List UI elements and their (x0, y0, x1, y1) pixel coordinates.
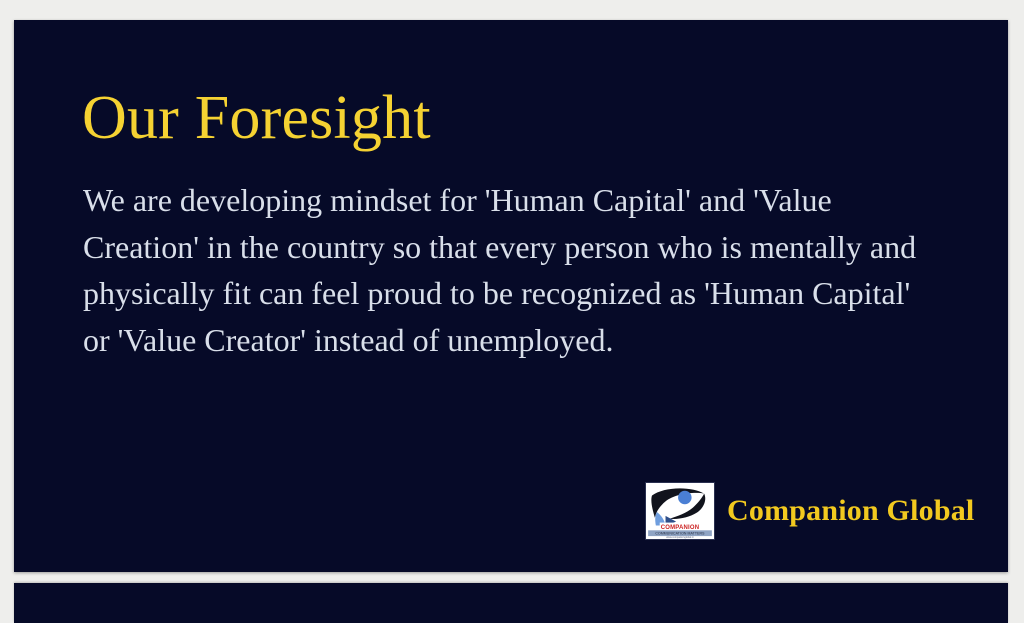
svg-text:COMPANION: COMPANION (661, 525, 699, 531)
companion-logo-icon: COMPANION COMMUNICATION MATTERS www.comp… (645, 482, 715, 540)
svg-text:www.companionglobal.in: www.companionglobal.in (666, 536, 694, 539)
brand-footer: COMPANION COMMUNICATION MATTERS www.comp… (645, 482, 974, 540)
svg-text:COMMUNICATION MATTERS: COMMUNICATION MATTERS (655, 532, 705, 536)
slide-deck-viewport: Our Foresight We are developing mindset … (0, 0, 1024, 590)
slide-body-text: We are developing mindset for 'Human Cap… (83, 177, 923, 363)
next-slide-preview[interactable] (14, 583, 1008, 623)
presentation-slide[interactable]: Our Foresight We are developing mindset … (14, 20, 1008, 572)
brand-name: Companion Global (727, 494, 974, 528)
page-title: Our Foresight (82, 86, 431, 151)
